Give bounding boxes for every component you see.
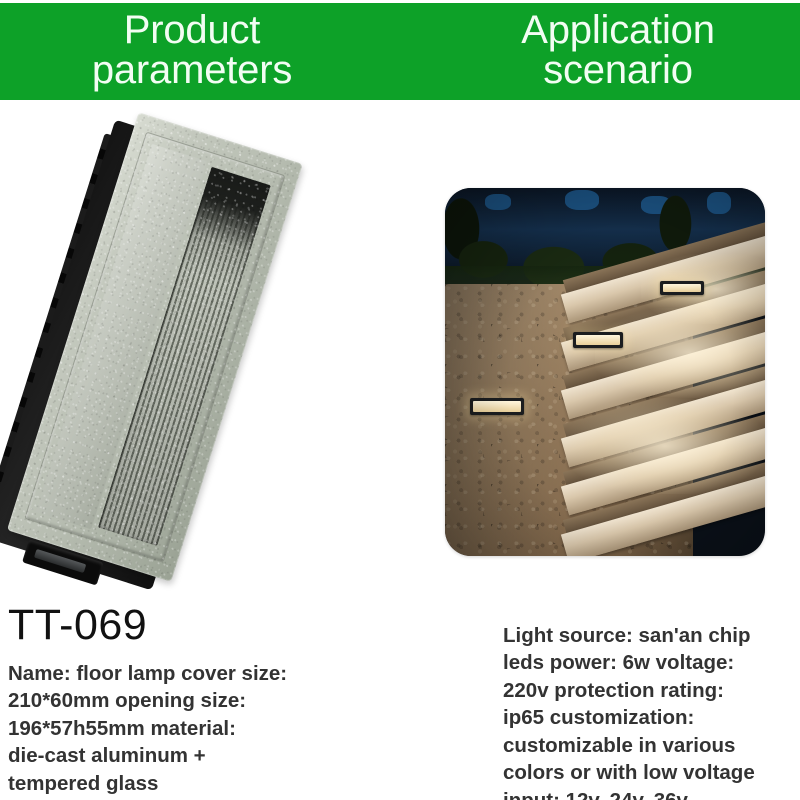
product-spec-page: Product parameters Application scenario (0, 0, 800, 800)
step-light-fixture (470, 398, 524, 415)
application-scenario-image (445, 188, 765, 556)
banner-column-application-scenario: Application scenario (400, 3, 800, 100)
header-banner: Product parameters Application scenario (0, 3, 800, 100)
application-specifications-text: Light source: san'an chip leds power: 6w… (503, 622, 800, 800)
banner-column-product-parameters: Product parameters (0, 3, 400, 100)
step-light-fixture (573, 332, 623, 348)
product-image (0, 100, 410, 600)
product-model-number: TT-069 (8, 604, 147, 647)
product-end-lens (22, 539, 104, 585)
step-light-fixture (660, 281, 704, 295)
staircase (565, 272, 765, 556)
product-body (0, 108, 297, 582)
step-light-glow (576, 335, 620, 345)
product-specifications-text: Name: floor lamp cover size: 210*60mm op… (8, 660, 448, 797)
product-parameters-title: Product parameters (92, 11, 292, 92)
step-light-glow (473, 401, 521, 412)
product-end-lens-glass (34, 549, 86, 573)
application-scenario-title: Application scenario (521, 11, 714, 92)
step-light-glow (663, 284, 701, 292)
